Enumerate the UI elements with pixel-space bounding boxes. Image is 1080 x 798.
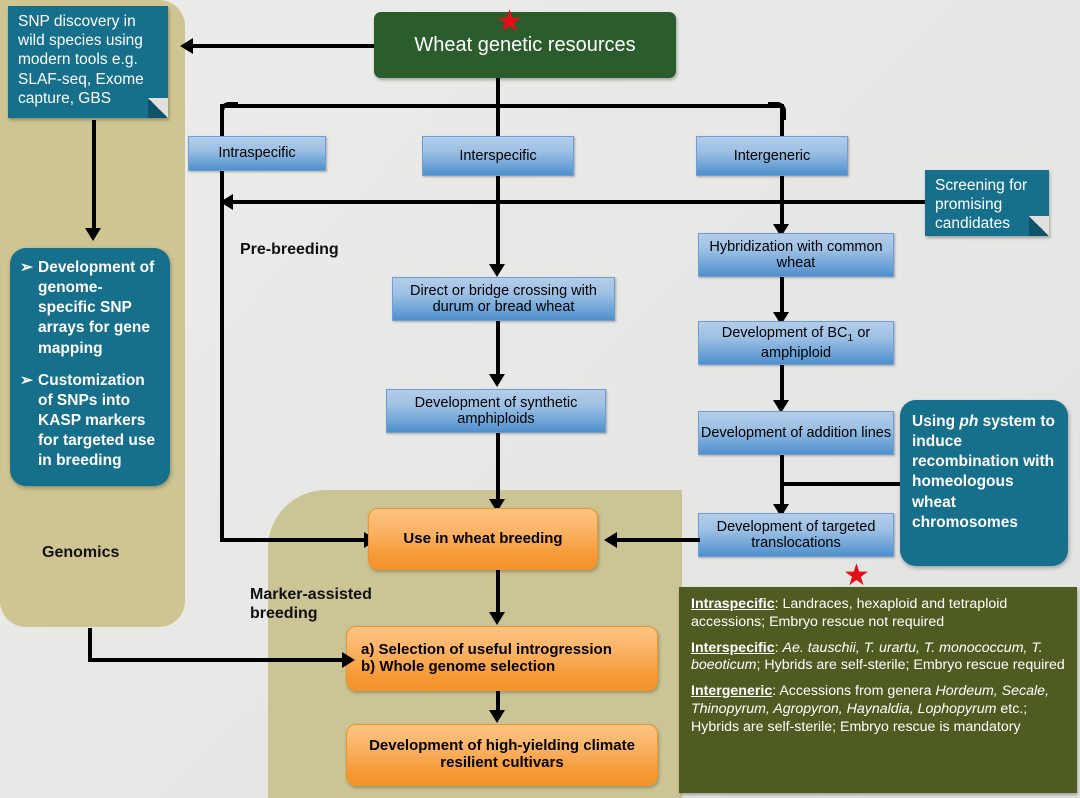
arrowhead-to-crossing: [489, 264, 505, 277]
genomics-bullet-2-label: Customization of SNPs into KASP markers …: [38, 371, 160, 472]
note-screening-for-promising-candidates[interactable]: Screening for promising candidates: [925, 170, 1049, 236]
node-interspecific[interactable]: Interspecific: [422, 136, 574, 176]
connector-drop-interspecific: [496, 104, 500, 136]
chevron-bullet-icon: ➢: [20, 258, 33, 359]
connector-genomics-to-selection: [88, 658, 346, 662]
node-interspecific-label: Interspecific: [459, 148, 536, 164]
connector-interspecific-to-crossing: [496, 202, 500, 270]
node-wheat-genetic-resources[interactable]: Wheat genetic resources: [374, 12, 676, 78]
connector-intergeneric-to-bar: [780, 176, 784, 202]
arrowhead-translocations-to-use: [604, 532, 617, 548]
node-development-bc1-or-amphiploid[interactable]: Development of BC1 or amphiploid: [698, 321, 894, 365]
arrowhead-to-synthetic: [489, 374, 505, 387]
bc1-prefix: Development of BC: [722, 325, 848, 341]
note-screening-label: Screening for promising candidates: [935, 177, 1027, 232]
node-selection-options[interactable]: a) Selection of useful introgression b) …: [346, 626, 658, 691]
note-genomics-bullets[interactable]: ➢ Development of genome-specific SNP arr…: [10, 248, 170, 486]
flowchart-canvas: Intraspecific Interspecific Intergeneric…: [0, 0, 1080, 798]
note-ph-system[interactable]: Using ph system to induce recombination …: [900, 400, 1068, 566]
connector-intraspecific-to-use: [220, 538, 368, 542]
node-selection-option-a: a) Selection of useful introgression: [361, 642, 612, 659]
list-item: ➢ Customization of SNPs into KASP marker…: [20, 371, 160, 472]
chevron-bullet-icon: ➢: [20, 371, 33, 472]
node-high-yielding-cultivars-label: Development of high-yielding climate res…: [347, 738, 657, 772]
connector-header-down: [496, 78, 500, 106]
legend-text-interspecific-b: ; Hybrids are self-sterile; Embryo rescu…: [756, 657, 1064, 673]
node-hybridization-label: Hybridization with common wheat: [699, 239, 893, 271]
node-development-addition-lines[interactable]: Development of addition lines: [698, 411, 894, 455]
legend-term-interspecific: Interspecific: [691, 640, 775, 656]
label-marker-assisted-breeding: Marker-assisted breeding: [250, 585, 400, 623]
legend-box: Intraspecific: Landraces, hexaploid and …: [679, 587, 1077, 793]
connector-intraspecific-down: [220, 171, 224, 542]
connector-crossing-to-synthetic: [496, 321, 500, 379]
legend-text-intergeneric-a: : Accessions from genera: [772, 683, 935, 699]
connector-genomics-down: [88, 628, 92, 662]
arrowhead-genomics-to-selection: [342, 652, 355, 668]
note-fold-corner-icon: [148, 98, 168, 118]
legend-entry-intraspecific: Intraspecific: Landraces, hexaploid and …: [691, 596, 1065, 632]
note-snp-discovery-label: SNP discovery in wild species using mode…: [18, 13, 144, 107]
connector-drop-intergeneric: [780, 104, 784, 136]
legend-entry-interspecific: Interspecific: Ae. tauschii, T. urartu, …: [691, 640, 1065, 676]
arrowhead-to-selection: [489, 612, 505, 625]
node-intraspecific[interactable]: Intraspecific: [188, 136, 326, 171]
ph-note-prefix: Using: [912, 413, 959, 430]
node-direct-or-bridge-crossing[interactable]: Direct or bridge crossing with durum or …: [392, 277, 615, 321]
connector-header-to-snp-note: [188, 44, 374, 48]
node-hybridization-with-common-wheat[interactable]: Hybridization with common wheat: [698, 233, 894, 277]
node-addition-lines-label: Development of addition lines: [701, 425, 891, 441]
genomics-bullet-1-label: Development of genome-specific SNP array…: [38, 258, 160, 359]
arrowhead-to-snp-note: [180, 38, 193, 54]
node-wheat-genetic-resources-label: Wheat genetic resources: [414, 34, 635, 56]
node-targeted-translocations-label: Development of targeted translocations: [699, 519, 893, 551]
node-direct-or-bridge-crossing-label: Direct or bridge crossing with durum or …: [393, 283, 614, 315]
connector-use-to-selection: [496, 570, 500, 618]
connector-interspecific-to-bar: [496, 176, 500, 202]
ph-note-suffix: system to induce recombination with home…: [912, 413, 1055, 531]
node-intergeneric-label: Intergeneric: [734, 148, 811, 164]
arrowhead-to-cultivars: [489, 710, 505, 723]
star-icon-header: ★: [496, 7, 523, 37]
node-use-in-wheat-breeding-label: Use in wheat breeding: [403, 531, 562, 548]
node-development-synthetic-amphiploids[interactable]: Development of synthetic amphiploids: [386, 389, 606, 433]
connector-synthetic-to-use: [496, 433, 500, 505]
legend-term-intergeneric: Intergeneric: [691, 683, 772, 699]
node-intraspecific-label: Intraspecific: [218, 145, 295, 161]
label-pre-breeding: Pre-breeding: [240, 240, 339, 259]
connector-snp-note-to-bullets: [92, 120, 96, 230]
node-intergeneric[interactable]: Intergeneric: [696, 136, 848, 176]
list-item: ➢ Development of genome-specific SNP arr…: [20, 258, 160, 359]
note-fold-corner-icon: [1029, 216, 1049, 236]
node-use-in-wheat-breeding[interactable]: Use in wheat breeding: [368, 508, 598, 570]
connector-distribution-bar: [222, 104, 782, 108]
arrowhead-to-genomics-bullets: [85, 228, 101, 241]
legend-entry-intergeneric: Intergeneric: Accessions from genera Hor…: [691, 683, 1065, 736]
connector-prebreeding-return-bar: [228, 200, 928, 204]
note-snp-discovery[interactable]: SNP discovery in wild species using mode…: [8, 6, 168, 118]
label-genomics: Genomics: [42, 543, 119, 562]
connector-translocations-to-use: [612, 538, 700, 542]
node-synthetic-amphiploids-label: Development of synthetic amphiploids: [387, 395, 605, 427]
node-selection-option-b: b) Whole genome selection: [361, 659, 612, 676]
legend-term-intraspecific: Intraspecific: [691, 596, 775, 612]
node-high-yielding-cultivars[interactable]: Development of high-yielding climate res…: [346, 724, 658, 786]
node-development-targeted-translocations[interactable]: Development of targeted translocations: [698, 513, 894, 557]
connector-ph-note-to-column: [780, 482, 902, 486]
ph-note-emphasis: ph: [959, 413, 978, 430]
connector-drop-intraspecific: [220, 104, 224, 136]
node-bc1-label: Development of BC1 or amphiploid: [699, 325, 893, 361]
